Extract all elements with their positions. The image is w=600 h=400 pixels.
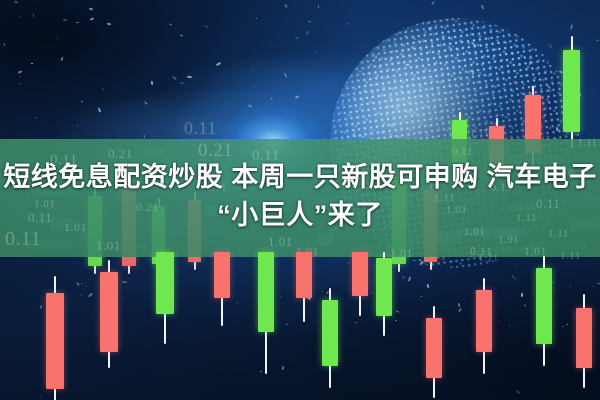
particle-speck bbox=[130, 261, 133, 263]
particle-speck bbox=[372, 292, 374, 293]
particle-speck bbox=[458, 303, 460, 307]
particle-speck bbox=[322, 291, 323, 292]
headline-line-2: “小巨人”来了 bbox=[0, 198, 600, 232]
candlestick-wick bbox=[303, 252, 305, 322]
particle-speck bbox=[98, 107, 102, 112]
particle-speck bbox=[408, 276, 412, 281]
particle-speck bbox=[286, 323, 288, 325]
particle-speck bbox=[576, 308, 579, 312]
particle-speck bbox=[562, 326, 564, 328]
candlestick-body bbox=[476, 290, 492, 352]
particle-speck bbox=[160, 309, 163, 313]
candlestick-wick bbox=[583, 294, 585, 388]
particle-speck bbox=[105, 50, 106, 51]
particle-speck bbox=[587, 325, 589, 327]
particle-speck bbox=[180, 81, 184, 84]
candlestick-wick bbox=[433, 306, 435, 398]
particle-speck bbox=[569, 285, 571, 287]
candlestick-body bbox=[258, 252, 274, 332]
candlestick-body bbox=[576, 308, 592, 368]
candlestick-body bbox=[426, 318, 442, 378]
particle-speck bbox=[144, 101, 148, 105]
particle-speck bbox=[89, 7, 93, 10]
particle-speck bbox=[122, 281, 127, 283]
particle-speck bbox=[107, 22, 111, 25]
particle-speck bbox=[596, 40, 599, 41]
particle-speck bbox=[458, 308, 462, 312]
particle-speck bbox=[88, 293, 93, 298]
particle-speck bbox=[256, 18, 257, 19]
particle-speck bbox=[19, 83, 20, 84]
particle-speck bbox=[326, 291, 329, 294]
particle-speck bbox=[592, 286, 594, 287]
particle-speck bbox=[215, 295, 216, 296]
particle-speck bbox=[76, 282, 80, 286]
particle-speck bbox=[14, 0, 18, 4]
candlestick-body bbox=[296, 252, 312, 298]
particle-speck bbox=[18, 70, 22, 74]
particle-speck bbox=[512, 275, 514, 277]
particle-speck bbox=[498, 321, 501, 322]
particle-speck bbox=[552, 281, 555, 284]
particle-speck bbox=[283, 72, 287, 77]
candlestick-wick bbox=[329, 288, 331, 388]
particle-speck bbox=[284, 4, 288, 8]
particle-speck bbox=[475, 290, 479, 294]
particle-speck bbox=[395, 320, 397, 322]
particle-speck bbox=[236, 302, 239, 304]
particle-speck bbox=[251, 69, 252, 70]
candlestick-body bbox=[100, 272, 118, 352]
particle-speck bbox=[521, 293, 523, 297]
particle-speck bbox=[566, 323, 568, 325]
particle-speck bbox=[85, 285, 87, 287]
particle-speck bbox=[282, 366, 285, 370]
particle-speck bbox=[331, 310, 332, 312]
particle-speck bbox=[390, 285, 391, 288]
particle-speck bbox=[426, 284, 429, 288]
particle-speck bbox=[33, 14, 35, 17]
candlestick-body bbox=[322, 300, 338, 366]
particle-speck bbox=[431, 1, 435, 5]
candlestick-wick bbox=[483, 278, 485, 374]
particle-speck bbox=[306, 296, 311, 301]
particle-speck bbox=[76, 124, 79, 127]
particle-speck bbox=[57, 38, 58, 39]
particle-speck bbox=[187, 76, 192, 79]
particle-speck bbox=[102, 88, 104, 90]
particle-speck bbox=[254, 87, 255, 88]
particle-speck bbox=[19, 16, 20, 17]
particle-speck bbox=[81, 101, 83, 103]
particle-speck bbox=[308, 21, 311, 23]
particle-speck bbox=[80, 295, 82, 297]
particle-speck bbox=[205, 25, 208, 28]
particle-speck bbox=[227, 267, 229, 269]
particle-speck bbox=[396, 310, 399, 312]
particle-speck bbox=[280, 295, 282, 297]
candlestick-wick bbox=[543, 256, 545, 366]
particle-speck bbox=[171, 279, 173, 281]
particle-speck bbox=[421, 296, 422, 297]
headline-line-1: 短线免息配资炒股 本周一只新股可申购 汽车电子 bbox=[0, 160, 600, 194]
particle-speck bbox=[543, 283, 544, 284]
particle-speck bbox=[516, 390, 520, 394]
candlestick-body bbox=[536, 268, 552, 344]
particle-speck bbox=[158, 258, 159, 261]
news-banner-image: 0.110.110.111.011.011.010.210.210.110.21… bbox=[0, 0, 600, 400]
particle-speck bbox=[90, 17, 94, 20]
particle-speck bbox=[270, 97, 272, 100]
candlestick-body bbox=[156, 252, 174, 314]
candlestick-wick bbox=[221, 252, 223, 326]
particle-speck bbox=[144, 135, 145, 138]
particle-speck bbox=[180, 34, 183, 36]
particle-speck bbox=[249, 324, 251, 326]
particle-speck bbox=[295, 95, 299, 98]
particle-speck bbox=[305, 30, 309, 35]
particle-speck bbox=[3, 43, 6, 46]
particle-speck bbox=[514, 277, 516, 279]
particle-speck bbox=[318, 5, 320, 8]
particle-speck bbox=[39, 305, 42, 309]
particle-speck bbox=[355, 321, 358, 323]
particle-speck bbox=[481, 4, 485, 9]
candlestick-wick bbox=[164, 252, 166, 344]
particle-speck bbox=[40, 395, 43, 397]
particle-speck bbox=[440, 346, 441, 349]
particle-speck bbox=[295, 37, 299, 39]
candlestick-body bbox=[214, 252, 230, 298]
particle-speck bbox=[216, 62, 221, 66]
particle-speck bbox=[169, 23, 172, 26]
price-label: 0.11 bbox=[184, 118, 217, 139]
particle-speck bbox=[402, 276, 405, 279]
particle-speck bbox=[248, 104, 252, 107]
headline-text: 短线免息配资炒股 本周一只新股可申购 汽车电子 “小巨人”来了 bbox=[0, 160, 600, 232]
particle-speck bbox=[151, 81, 153, 85]
candlestick-wick bbox=[54, 276, 56, 400]
particle-speck bbox=[36, 117, 37, 118]
candlestick-wick bbox=[108, 260, 110, 368]
particle-speck bbox=[81, 283, 83, 285]
candlestick-wick bbox=[265, 252, 267, 374]
particle-speck bbox=[172, 76, 177, 81]
particle-speck bbox=[20, 76, 21, 77]
particle-speck bbox=[316, 51, 318, 54]
particle-speck bbox=[60, 57, 63, 61]
candlestick-body bbox=[46, 293, 64, 389]
particle-speck bbox=[63, 19, 67, 22]
particle-speck bbox=[508, 324, 511, 327]
particle-speck bbox=[382, 298, 384, 299]
particle-speck bbox=[76, 22, 79, 24]
particle-speck bbox=[260, 371, 262, 372]
particle-speck bbox=[524, 304, 525, 306]
particle-speck bbox=[31, 63, 33, 64]
